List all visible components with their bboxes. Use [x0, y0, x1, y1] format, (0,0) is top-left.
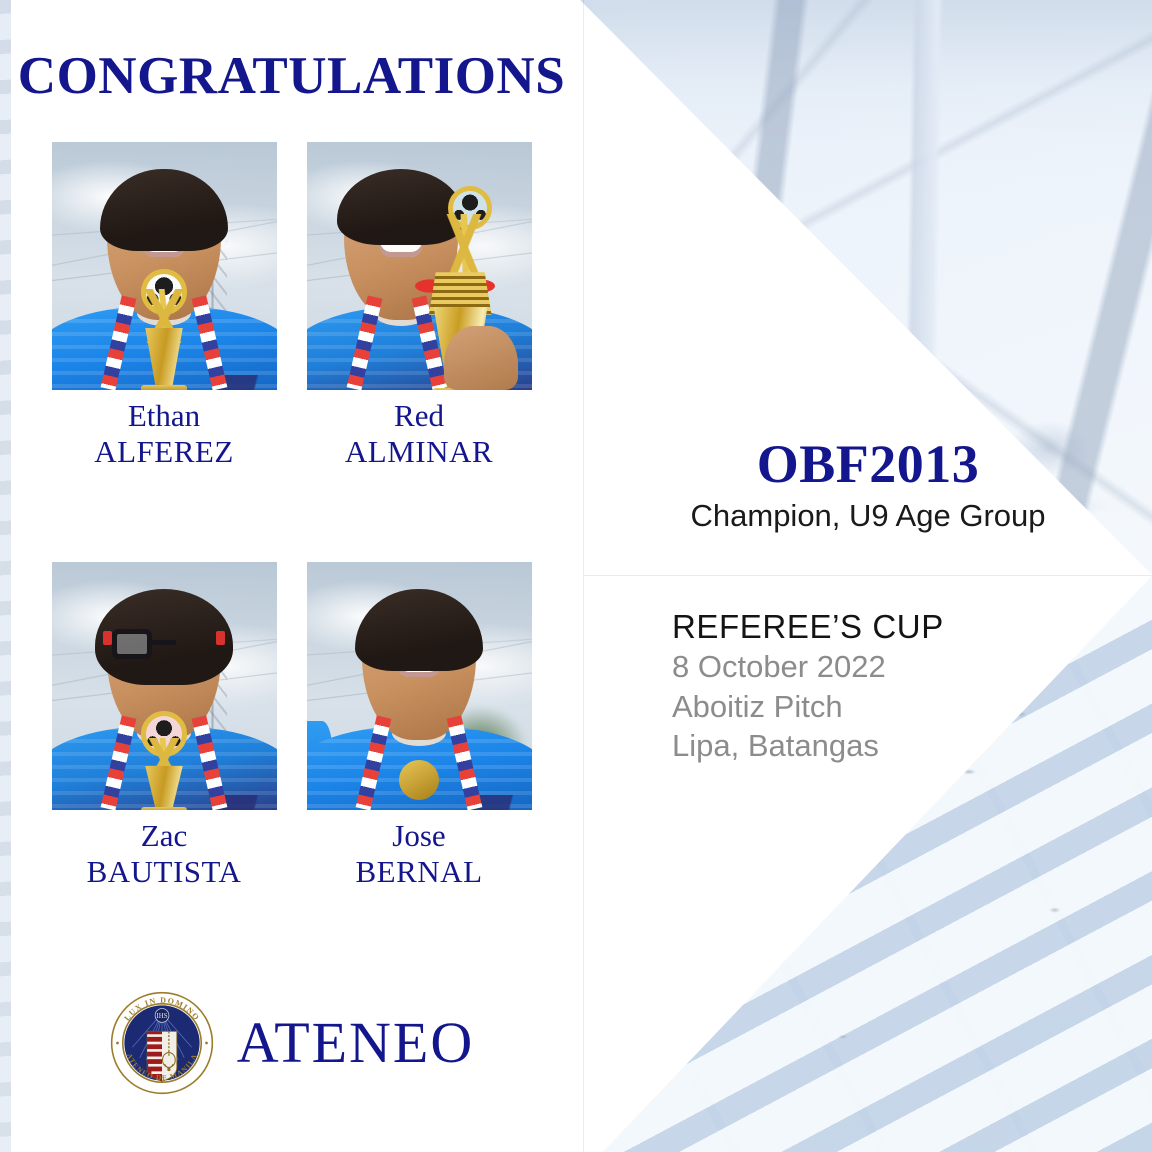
- photo-hand: [444, 326, 518, 390]
- player-name-jose-bernal: Jose BERNAL: [307, 818, 532, 890]
- page-title: CONGRATULATIONS: [0, 50, 583, 103]
- team-block: OBF2013 Champion, U9 Age Group: [584, 436, 1152, 534]
- player-photo-zac-bautista: [52, 562, 277, 810]
- trophy-stars: [419, 214, 509, 280]
- photo-trophy: [116, 721, 212, 810]
- player-card-zac-bautista: Zac BAUTISTA: [52, 562, 277, 890]
- left-panel: CONGRATULATIONS: [0, 0, 583, 1152]
- trophy-base: [141, 385, 187, 390]
- player-row-bottom: Zac BAUTISTA: [0, 562, 583, 890]
- player-photo-jose-bernal: [307, 562, 532, 810]
- event-title: REFEREE’S CUP: [672, 608, 1092, 647]
- player-photo-red-alminar: [307, 142, 532, 390]
- glasses-strap-left: [103, 631, 112, 645]
- player-name-red-alminar: Red ALMINAR: [307, 398, 532, 470]
- event-date: 8 October 2022: [672, 647, 1092, 687]
- event-block: REFEREE’S CUP 8 October 2022 Aboitiz Pit…: [672, 608, 1092, 766]
- event-location: Lipa, Batangas: [672, 726, 1092, 766]
- glasses-bridge: [152, 640, 176, 645]
- player-last-name: BAUTISTA: [52, 854, 277, 890]
- medal-icon: [399, 760, 439, 800]
- player-row-top: Ethan ALFEREZ: [0, 142, 583, 470]
- trophy-base: [141, 807, 187, 810]
- ateneo-seal-icon: IHS LUX IN DOMIN: [109, 990, 215, 1096]
- player-first-name: Ethan: [128, 398, 200, 433]
- glasses-lens-right: [112, 629, 152, 659]
- eyeglasses-icon: [112, 629, 216, 659]
- ihs-monogram: IHS: [156, 1013, 167, 1020]
- player-first-name: Jose: [392, 818, 445, 853]
- player-card-ethan-alferez: Ethan ALFEREZ: [52, 142, 277, 470]
- player-last-name: ALMINAR: [307, 434, 532, 470]
- player-last-name: BERNAL: [307, 854, 532, 890]
- event-venue: Aboitiz Pitch: [672, 687, 1092, 727]
- player-photo-ethan-alferez: [52, 142, 277, 390]
- player-name-zac-bautista: Zac BAUTISTA: [52, 818, 277, 890]
- certificate-poster: CONGRATULATIONS: [0, 0, 1152, 1152]
- player-last-name: ALFEREZ: [52, 434, 277, 470]
- team-name: OBF2013: [584, 436, 1152, 493]
- glasses-strap-right: [216, 631, 225, 645]
- player-first-name: Red: [394, 398, 444, 433]
- player-card-red-alminar: Red ALMINAR: [307, 142, 532, 470]
- ateneo-wordmark: ATENEO: [237, 1014, 475, 1072]
- player-first-name: Zac: [141, 818, 187, 853]
- horizontal-divider: [584, 575, 1152, 576]
- team-achievement: Champion, U9 Age Group: [584, 497, 1152, 534]
- vertical-divider: [583, 0, 584, 1152]
- brand-lockup: IHS LUX IN DOMIN: [0, 990, 583, 1096]
- player-name-ethan-alferez: Ethan ALFEREZ: [52, 398, 277, 470]
- photo-trophy: [116, 266, 212, 390]
- player-card-jose-bernal: Jose BERNAL: [307, 562, 532, 890]
